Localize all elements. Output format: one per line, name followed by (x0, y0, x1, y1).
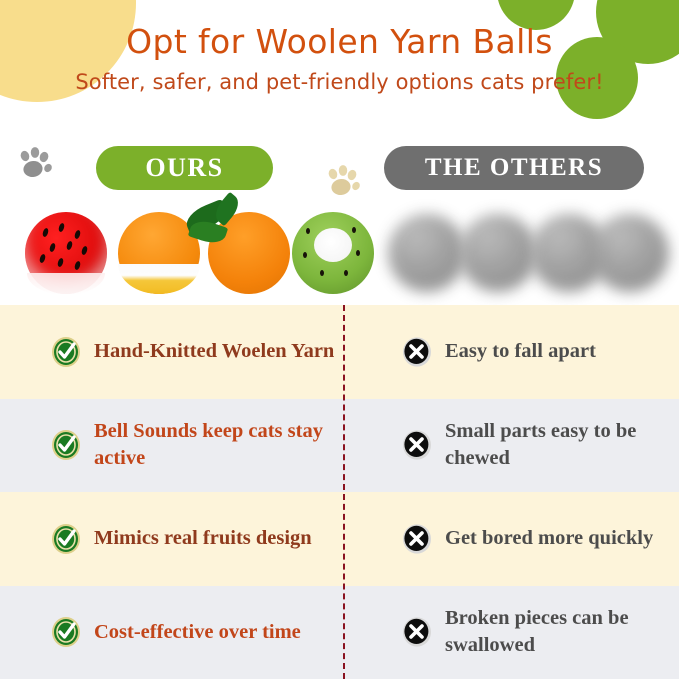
row-cell-others: Small parts easy to be chewed (343, 399, 679, 493)
row-cell-others: Broken pieces can be swallowed (343, 586, 679, 679)
page-title: Opt for Woolen Yarn Balls (0, 22, 679, 61)
row-text-others: Small parts easy to be chewed (445, 418, 679, 472)
blurred-gray-ball (459, 214, 537, 292)
row-text-others: Get bored more quickly (445, 525, 653, 552)
table-row: Mimics real fruits design Get bored more… (0, 492, 679, 586)
row-cell-others: Easy to fall apart (343, 305, 679, 399)
check-circle-icon (50, 616, 82, 648)
header-section: Opt for Woolen Yarn Balls Softer, safer,… (0, 0, 679, 122)
row-text-others: Easy to fall apart (445, 338, 596, 365)
x-circle-icon (401, 429, 433, 461)
comparison-infographic: Opt for Woolen Yarn Balls Softer, safer,… (0, 0, 679, 679)
check-circle-icon (50, 429, 82, 461)
paw-print-icon (14, 144, 58, 188)
kiwi-yarn-ball (292, 212, 374, 294)
badge-others-label: THE OTHERS (425, 154, 603, 182)
x-circle-icon (401, 523, 433, 555)
blurred-gray-ball (388, 214, 466, 292)
table-row: Cost-effective over time Broken pieces c… (0, 586, 679, 679)
row-cell-ours: Bell Sounds keep cats stay active (0, 399, 343, 493)
x-circle-icon (401, 336, 433, 368)
row-cell-ours: Cost-effective over time (0, 586, 343, 679)
kiwi-core (314, 228, 352, 262)
table-row: Hand-Knitted Woelen Yarn Easy to fall ap… (0, 305, 679, 399)
watermelon-seeds (25, 212, 107, 294)
row-cell-ours: Hand-Knitted Woelen Yarn (0, 305, 343, 399)
row-text-ours: Hand-Knitted Woelen Yarn (94, 338, 334, 365)
x-circle-icon (401, 616, 433, 648)
watermelon-yarn-ball (25, 212, 107, 294)
row-cell-ours: Mimics real fruits design (0, 492, 343, 586)
orange-leaf-yarn-ball (208, 212, 290, 294)
check-circle-icon (50, 523, 82, 555)
badge-ours-label: OURS (145, 153, 223, 183)
row-text-ours: Bell Sounds keep cats stay active (94, 418, 343, 472)
column-divider (343, 305, 345, 679)
badge-ours: OURS (96, 146, 273, 190)
check-circle-icon (50, 336, 82, 368)
product-image-strip (0, 200, 679, 305)
row-text-ours: Mimics real fruits design (94, 525, 312, 552)
badge-others: THE OTHERS (384, 146, 644, 190)
row-cell-others: Get bored more quickly (343, 492, 679, 586)
comparison-table: Hand-Knitted Woelen Yarn Easy to fall ap… (0, 305, 679, 679)
row-text-others: Broken pieces can be swallowed (445, 605, 679, 659)
page-subtitle: Softer, safer, and pet-friendly options … (0, 70, 679, 94)
table-row: Bell Sounds keep cats stay active Small … (0, 399, 679, 493)
row-text-ours: Cost-effective over time (94, 619, 301, 646)
blurred-gray-ball (591, 214, 669, 292)
badge-row: OURS THE OTHERS (0, 122, 679, 200)
